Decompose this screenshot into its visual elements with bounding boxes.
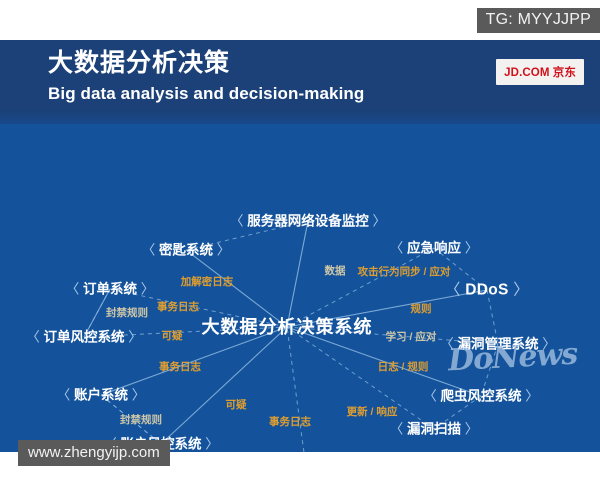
slide-title-en: Big data analysis and decision-making: [48, 85, 364, 102]
diagram-edge: [287, 221, 308, 327]
node-bracket-left: 〈: [423, 388, 440, 403]
diagram-node-label: 服务器网络设备监控: [247, 213, 369, 228]
diagram-edge-label: 可疑: [162, 331, 183, 342]
tg-watermark-tag: TG: MYYJJPP: [477, 8, 600, 33]
diagram-node-label: 漏洞扫描: [407, 421, 461, 436]
diagram-edge: [287, 248, 434, 327]
diagram-edge-label: 事务日志: [159, 362, 201, 373]
diagram-edge-label: 加解密日志: [181, 277, 234, 288]
node-bracket-right: 〉: [369, 213, 386, 228]
jd-brand-logo: JD.COM 京东: [496, 59, 584, 85]
diagram-node-key-system[interactable]: 〈 密匙系统 〉: [142, 243, 231, 257]
diagram-node-label: DDoS: [465, 281, 508, 298]
diagram-edge-label: 可疑: [226, 400, 247, 411]
diagram-node-ddos[interactable]: 〈 DDoS 〉: [445, 282, 529, 298]
node-bracket-right: 〉: [202, 436, 219, 451]
donews-watermark: DoNews: [447, 337, 578, 379]
node-bracket-right: 〉: [213, 242, 230, 257]
node-bracket-right: 〉: [128, 387, 145, 402]
node-bracket-right: 〉: [137, 281, 154, 296]
diagram-node-vuln-scan[interactable]: 〈 漏洞扫描 〉: [390, 422, 479, 436]
diagram-node-emergency-response[interactable]: 〈 应急响应 〉: [390, 241, 479, 255]
node-bracket-left: 〈: [142, 242, 159, 257]
diagram-edge: [287, 327, 305, 452]
diagram-node-account-system[interactable]: 〈 账户系统 〉: [57, 388, 146, 402]
diagram-edge-label: 规则: [411, 304, 432, 315]
diagram-edge-label: 攻击行为同步 / 应对: [358, 267, 451, 278]
diagram-node-label: 大数据分析决策系统: [202, 317, 373, 337]
diagram-edge-label: 数据: [325, 266, 346, 277]
node-bracket-left: 〈: [230, 213, 247, 228]
slide-canvas: 大数据分析决策 Big data analysis and decision-m…: [0, 40, 600, 452]
diagram-node-label: 账户系统: [74, 387, 128, 402]
diagram-node-label: 订单风控系统: [44, 329, 125, 344]
diagram-edge-label: 日志 / 规则: [378, 362, 429, 373]
node-bracket-right: 〉: [509, 281, 529, 298]
diagram-node-server-monitor[interactable]: 〈 服务器网络设备监控 〉: [230, 214, 386, 228]
node-bracket-left: 〈: [390, 421, 407, 436]
diagram-edge-label: 更新 / 响应: [347, 407, 398, 418]
slide-title-cn: 大数据分析决策: [48, 51, 230, 76]
diagram-edge-label: 封禁规则: [106, 308, 148, 319]
node-bracket-right: 〉: [522, 388, 539, 403]
diagram-edge-label: 事务日志: [269, 417, 311, 428]
diagram-node-label: 应急响应: [407, 240, 461, 255]
diagram-edge-label: 学习 / 应对: [386, 332, 437, 343]
node-bracket-left: 〈: [26, 329, 43, 344]
diagram-node-crawler-risk-system[interactable]: 〈 爬虫风控系统 〉: [423, 389, 539, 403]
diagram-node-label: 爬虫风控系统: [441, 388, 522, 403]
source-url-tag: www.zhengyijp.com: [18, 440, 170, 466]
node-bracket-right: 〉: [461, 240, 478, 255]
node-bracket-left: 〈: [66, 281, 83, 296]
node-bracket-right: 〉: [125, 329, 142, 344]
node-bracket-right: 〉: [461, 421, 478, 436]
network-diagram: 大数据分析决策系统〈 服务器网络设备监控 〉〈 密匙系统 〉〈 订单系统 〉〈 …: [0, 124, 600, 452]
diagram-edge-label: 事务日志: [157, 302, 199, 313]
diagram-node-order-risk-system[interactable]: 〈 订单风控系统 〉: [26, 330, 142, 344]
diagram-node-order-system[interactable]: 〈 订单系统 〉: [66, 282, 155, 296]
node-bracket-left: 〈: [390, 240, 407, 255]
diagram-edge: [186, 250, 287, 327]
jd-brand-logo-text: JD.COM 京东: [504, 67, 576, 79]
diagram-node-core[interactable]: 大数据分析决策系统: [202, 318, 373, 336]
diagram-node-label: 订单系统: [83, 281, 137, 296]
node-bracket-left: 〈: [57, 387, 74, 402]
diagram-node-label: 密匙系统: [159, 242, 213, 257]
node-bracket-left: 〈: [445, 281, 465, 298]
diagram-edge-label: 封禁规则: [120, 415, 162, 426]
